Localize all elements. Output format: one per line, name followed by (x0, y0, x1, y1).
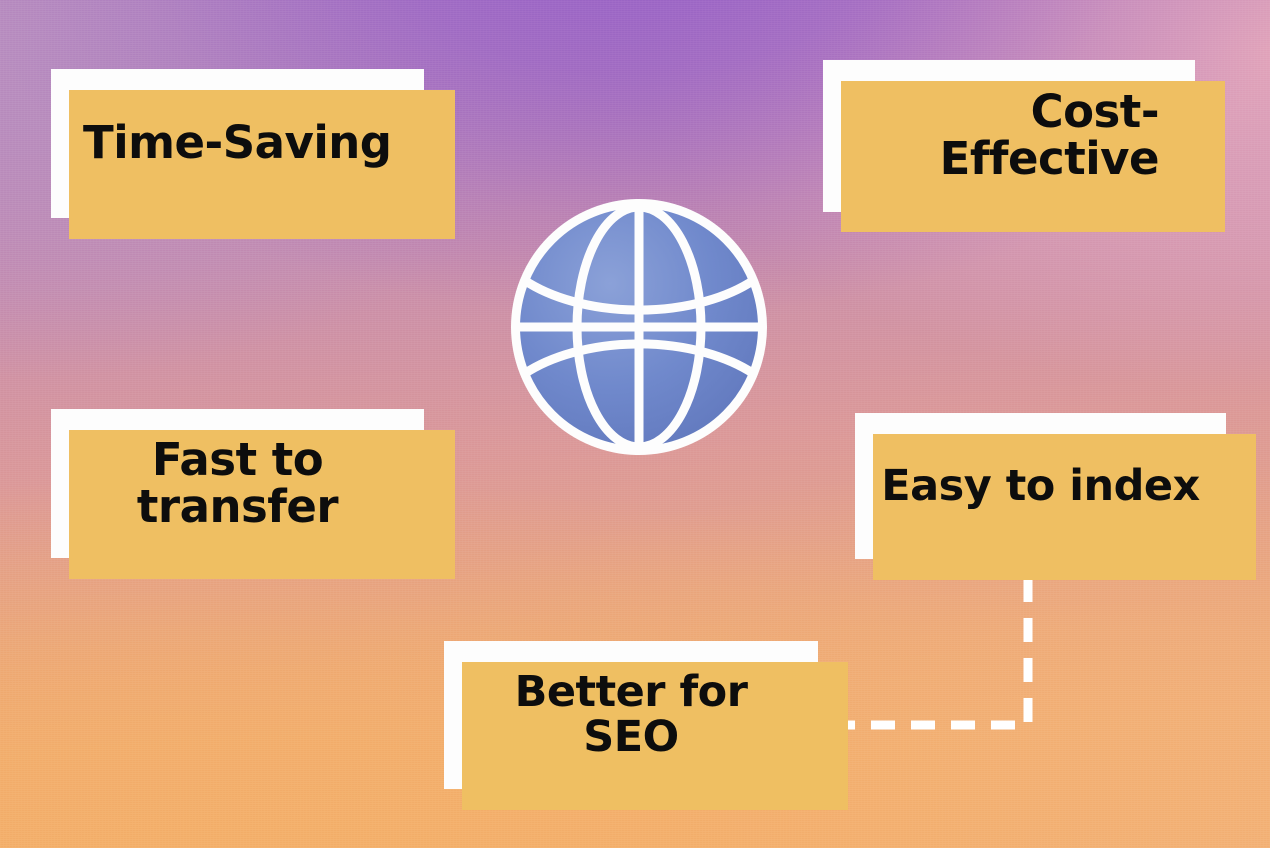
dashed-connector (820, 560, 1050, 740)
card-time-saving[interactable]: Time-Saving (51, 69, 424, 218)
card-label-easy-to-index: Easy to index (873, 464, 1208, 509)
card-better-for-seo[interactable]: Better for SEO (444, 641, 818, 789)
card-cost-effective[interactable]: Cost- Effective (823, 60, 1195, 212)
connector-path (833, 578, 1028, 725)
card-label-cost-effective: Cost- Effective (843, 89, 1175, 183)
card-fast-to-transfer[interactable]: Fast to transfer (51, 409, 424, 558)
card-label-better-for-seo: Better for SEO (464, 670, 798, 759)
card-label-fast-to-transfer: Fast to transfer (71, 437, 404, 531)
card-easy-to-index[interactable]: Easy to index (855, 413, 1226, 559)
card-label-time-saving: Time-Saving (73, 120, 402, 167)
globe-icon (508, 196, 770, 458)
infographic-canvas: Time-Saving Cost- Effective Fast to tran… (0, 0, 1270, 848)
